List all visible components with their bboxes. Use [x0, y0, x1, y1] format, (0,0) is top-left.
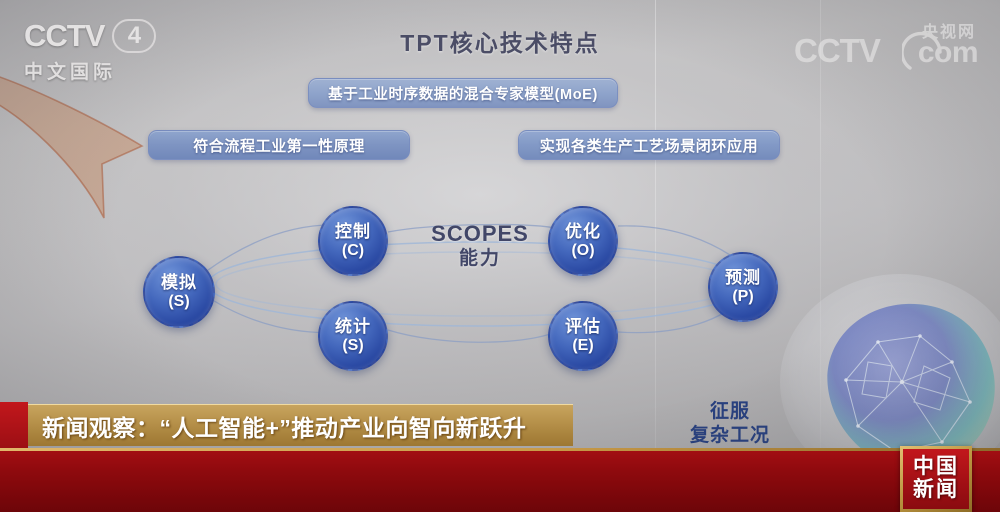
node-statistics: 统计 (S) — [318, 301, 388, 371]
channel-logo-subtitle: 中文国际 — [24, 57, 184, 84]
tv-broadcast-frame: TPT核心技术特点 基于工业时序数据的混合专家模型(MoE) 符合流程工业第一性… — [0, 0, 1000, 512]
lower-third-headline-bar: 大模型产业已形成涵盖模型层应用层等完整架构 — [0, 448, 1000, 512]
feature-pill-first-principles: 符合流程工业第一性原理 — [148, 130, 410, 160]
watermark-com-text: com — [918, 36, 978, 70]
node-evaluation: 评估 (E) — [548, 301, 618, 371]
feature-pill-first-principles-label: 符合流程工业第一性原理 — [193, 135, 365, 156]
lower-third-topic-text: 新闻观察：“人工智能+”推动产业向智向新跃升 — [28, 409, 526, 443]
node-statistics-label: 统计 — [335, 317, 371, 336]
node-optimization-label: 优化 — [565, 222, 601, 241]
program-badge: 中国 新闻 — [900, 446, 972, 512]
lower-third-topic-bar: 新闻观察：“人工智能+”推动产业向智向新跃升 — [28, 404, 573, 446]
channel-logo-cctv-text: CCTV — [24, 18, 104, 54]
node-prediction: 预测 (P) — [708, 252, 778, 322]
node-prediction-tag: (P) — [732, 288, 753, 306]
conquer-line-1: 征服 — [660, 400, 800, 424]
node-simulation-label: 模拟 — [161, 273, 197, 292]
node-simulation: 模拟 (S) — [143, 256, 215, 328]
program-badge-inner: 中国 新闻 — [903, 449, 969, 509]
channel-logo-row: CCTV 4 — [24, 18, 184, 54]
feature-pill-moe: 基于工业时序数据的混合专家模型(MoE) — [308, 78, 618, 108]
node-optimization-tag: (O) — [571, 242, 594, 260]
lower-third-red-edge — [0, 402, 28, 448]
lower-third-gold-rule — [0, 448, 1000, 451]
scopes-en-text: SCOPES — [410, 220, 550, 247]
node-prediction-label: 预测 — [725, 268, 761, 287]
program-badge-line-1: 中国 — [913, 456, 959, 479]
feature-pill-closed-loop: 实现各类生产工艺场景闭环应用 — [518, 130, 780, 160]
channel-logo-cctv4: CCTV 4 中文国际 — [24, 18, 184, 82]
channel-logo-number: 4 — [112, 19, 156, 53]
node-optimization: 优化 (O) — [548, 206, 618, 276]
node-statistics-tag: (S) — [342, 337, 363, 355]
conquer-line-2: 复杂工况 — [660, 424, 800, 448]
conquer-caption: 征服 复杂工况 — [660, 400, 800, 449]
scopes-cn-text: 能力 — [410, 247, 550, 271]
watermark-cctv-com: CCTV 央视网 com — [794, 18, 978, 76]
feature-pill-closed-loop-label: 实现各类生产工艺场景闭环应用 — [540, 135, 758, 156]
program-badge-line-2: 新闻 — [913, 479, 959, 502]
scopes-center-label: SCOPES 能力 — [410, 220, 550, 271]
node-control-label: 控制 — [335, 222, 371, 241]
node-simulation-tag: (S) — [168, 293, 189, 311]
node-evaluation-tag: (E) — [572, 337, 593, 355]
node-control-tag: (C) — [342, 242, 364, 260]
node-evaluation-label: 评估 — [565, 317, 601, 336]
node-control: 控制 (C) — [318, 206, 388, 276]
watermark-cctv-text: CCTV — [794, 34, 880, 67]
feature-pill-moe-label: 基于工业时序数据的混合专家模型(MoE) — [328, 83, 598, 104]
